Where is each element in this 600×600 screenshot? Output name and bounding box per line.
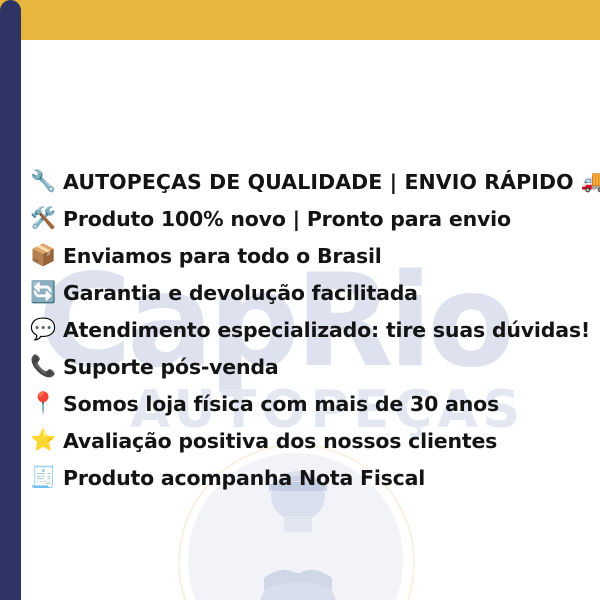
feature-label: Somos loja física com mais de 30 anos (63, 392, 499, 416)
star-icon: ⭐ (30, 430, 63, 451)
feature-row: 🛠️Produto 100% novo | Pronto para envio (30, 200, 590, 237)
top-accent-bar (0, 0, 600, 40)
feature-row: 📦Enviamos para todo o Brasil (30, 237, 590, 274)
feature-row: 📞Suporte pós-venda (30, 348, 590, 385)
receipt-icon: 🧾 (30, 467, 63, 488)
feature-label: Atendimento especializado: tire suas dúv… (63, 318, 590, 342)
package-icon: 📦 (30, 245, 63, 266)
speech-balloon-icon: 💬 (30, 319, 63, 340)
delivery-truck-icon: 🚚 (581, 171, 600, 192)
feature-label: Produto acompanha Nota Fiscal (63, 466, 425, 490)
left-accent-stripe (0, 0, 21, 600)
feature-row: ⭐Avaliação positiva dos nossos clientes (30, 422, 590, 459)
feature-row: 🔄Garantia e devolução facilitada (30, 274, 590, 311)
feature-label: Avaliação positiva dos nossos clientes (63, 429, 497, 453)
refresh-arrows-icon: 🔄 (30, 282, 63, 303)
telephone-receiver-icon: 📞 (30, 356, 63, 377)
promo-banner: CapRio AUTOPEÇAS 🔧AUTOPEÇAS DE QUALIDADE… (0, 0, 600, 600)
feature-row: 📍Somos loja física com mais de 30 anos (30, 385, 590, 422)
hammer-and-wrench-icon: 🛠️ (30, 208, 63, 229)
stripe-gap (21, 40, 25, 600)
feature-label: Enviamos para todo o Brasil (63, 244, 382, 268)
feature-label: Garantia e devolução facilitada (63, 281, 418, 305)
feature-row: 🧾Produto acompanha Nota Fiscal (30, 459, 590, 496)
feature-row: 💬Atendimento especializado: tire suas dú… (30, 311, 590, 348)
feature-label: Suporte pós-venda (63, 355, 279, 379)
feature-list: 🔧AUTOPEÇAS DE QUALIDADE | ENVIO RÁPIDO🚚🛠… (30, 163, 590, 496)
wrench-icon: 🔧 (30, 171, 63, 192)
feature-row: 🔧AUTOPEÇAS DE QUALIDADE | ENVIO RÁPIDO🚚 (30, 163, 590, 200)
feature-label: AUTOPEÇAS DE QUALIDADE | ENVIO RÁPIDO (63, 170, 574, 194)
feature-label: Produto 100% novo | Pronto para envio (63, 207, 511, 231)
round-pushpin-icon: 📍 (30, 393, 63, 414)
